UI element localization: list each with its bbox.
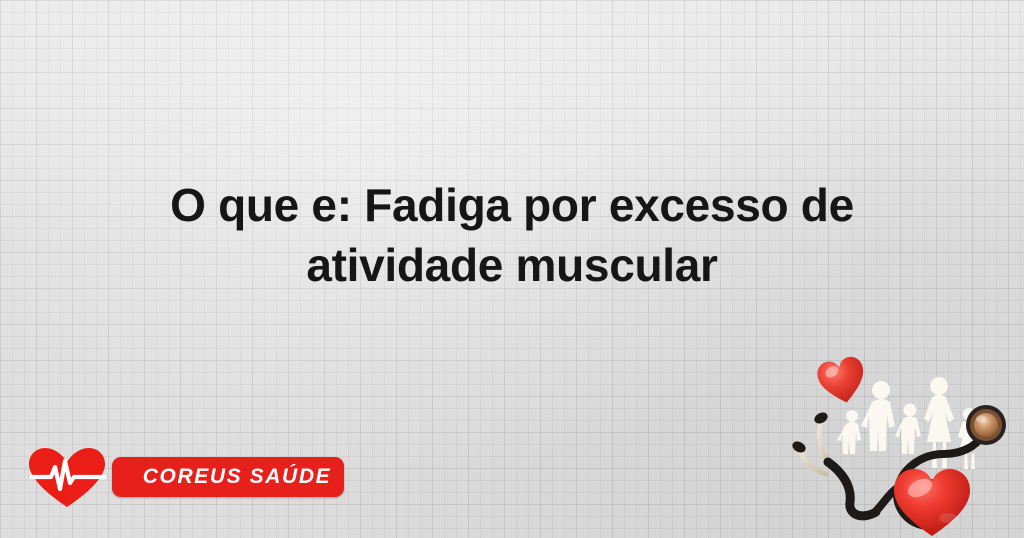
heart-pulse-icon — [28, 447, 106, 509]
family-member-child-left — [837, 410, 861, 454]
health-artwork — [786, 352, 1024, 538]
brand-name-label: COREUS SAÚDE — [112, 457, 344, 497]
family-member-adult-male — [861, 381, 895, 451]
stethoscope-chestpiece-icon — [966, 405, 1006, 445]
family-member-child-middle — [895, 404, 921, 455]
small-heart-icon — [815, 355, 869, 408]
brand-logo[interactable]: COREUS SAÚDE — [28, 447, 348, 509]
banner-canvas: O que e: Fadiga por excesso de atividade… — [0, 0, 1024, 538]
large-heart-icon — [894, 469, 970, 536]
page-title: O que e: Fadiga por excesso de atividade… — [0, 176, 1024, 296]
